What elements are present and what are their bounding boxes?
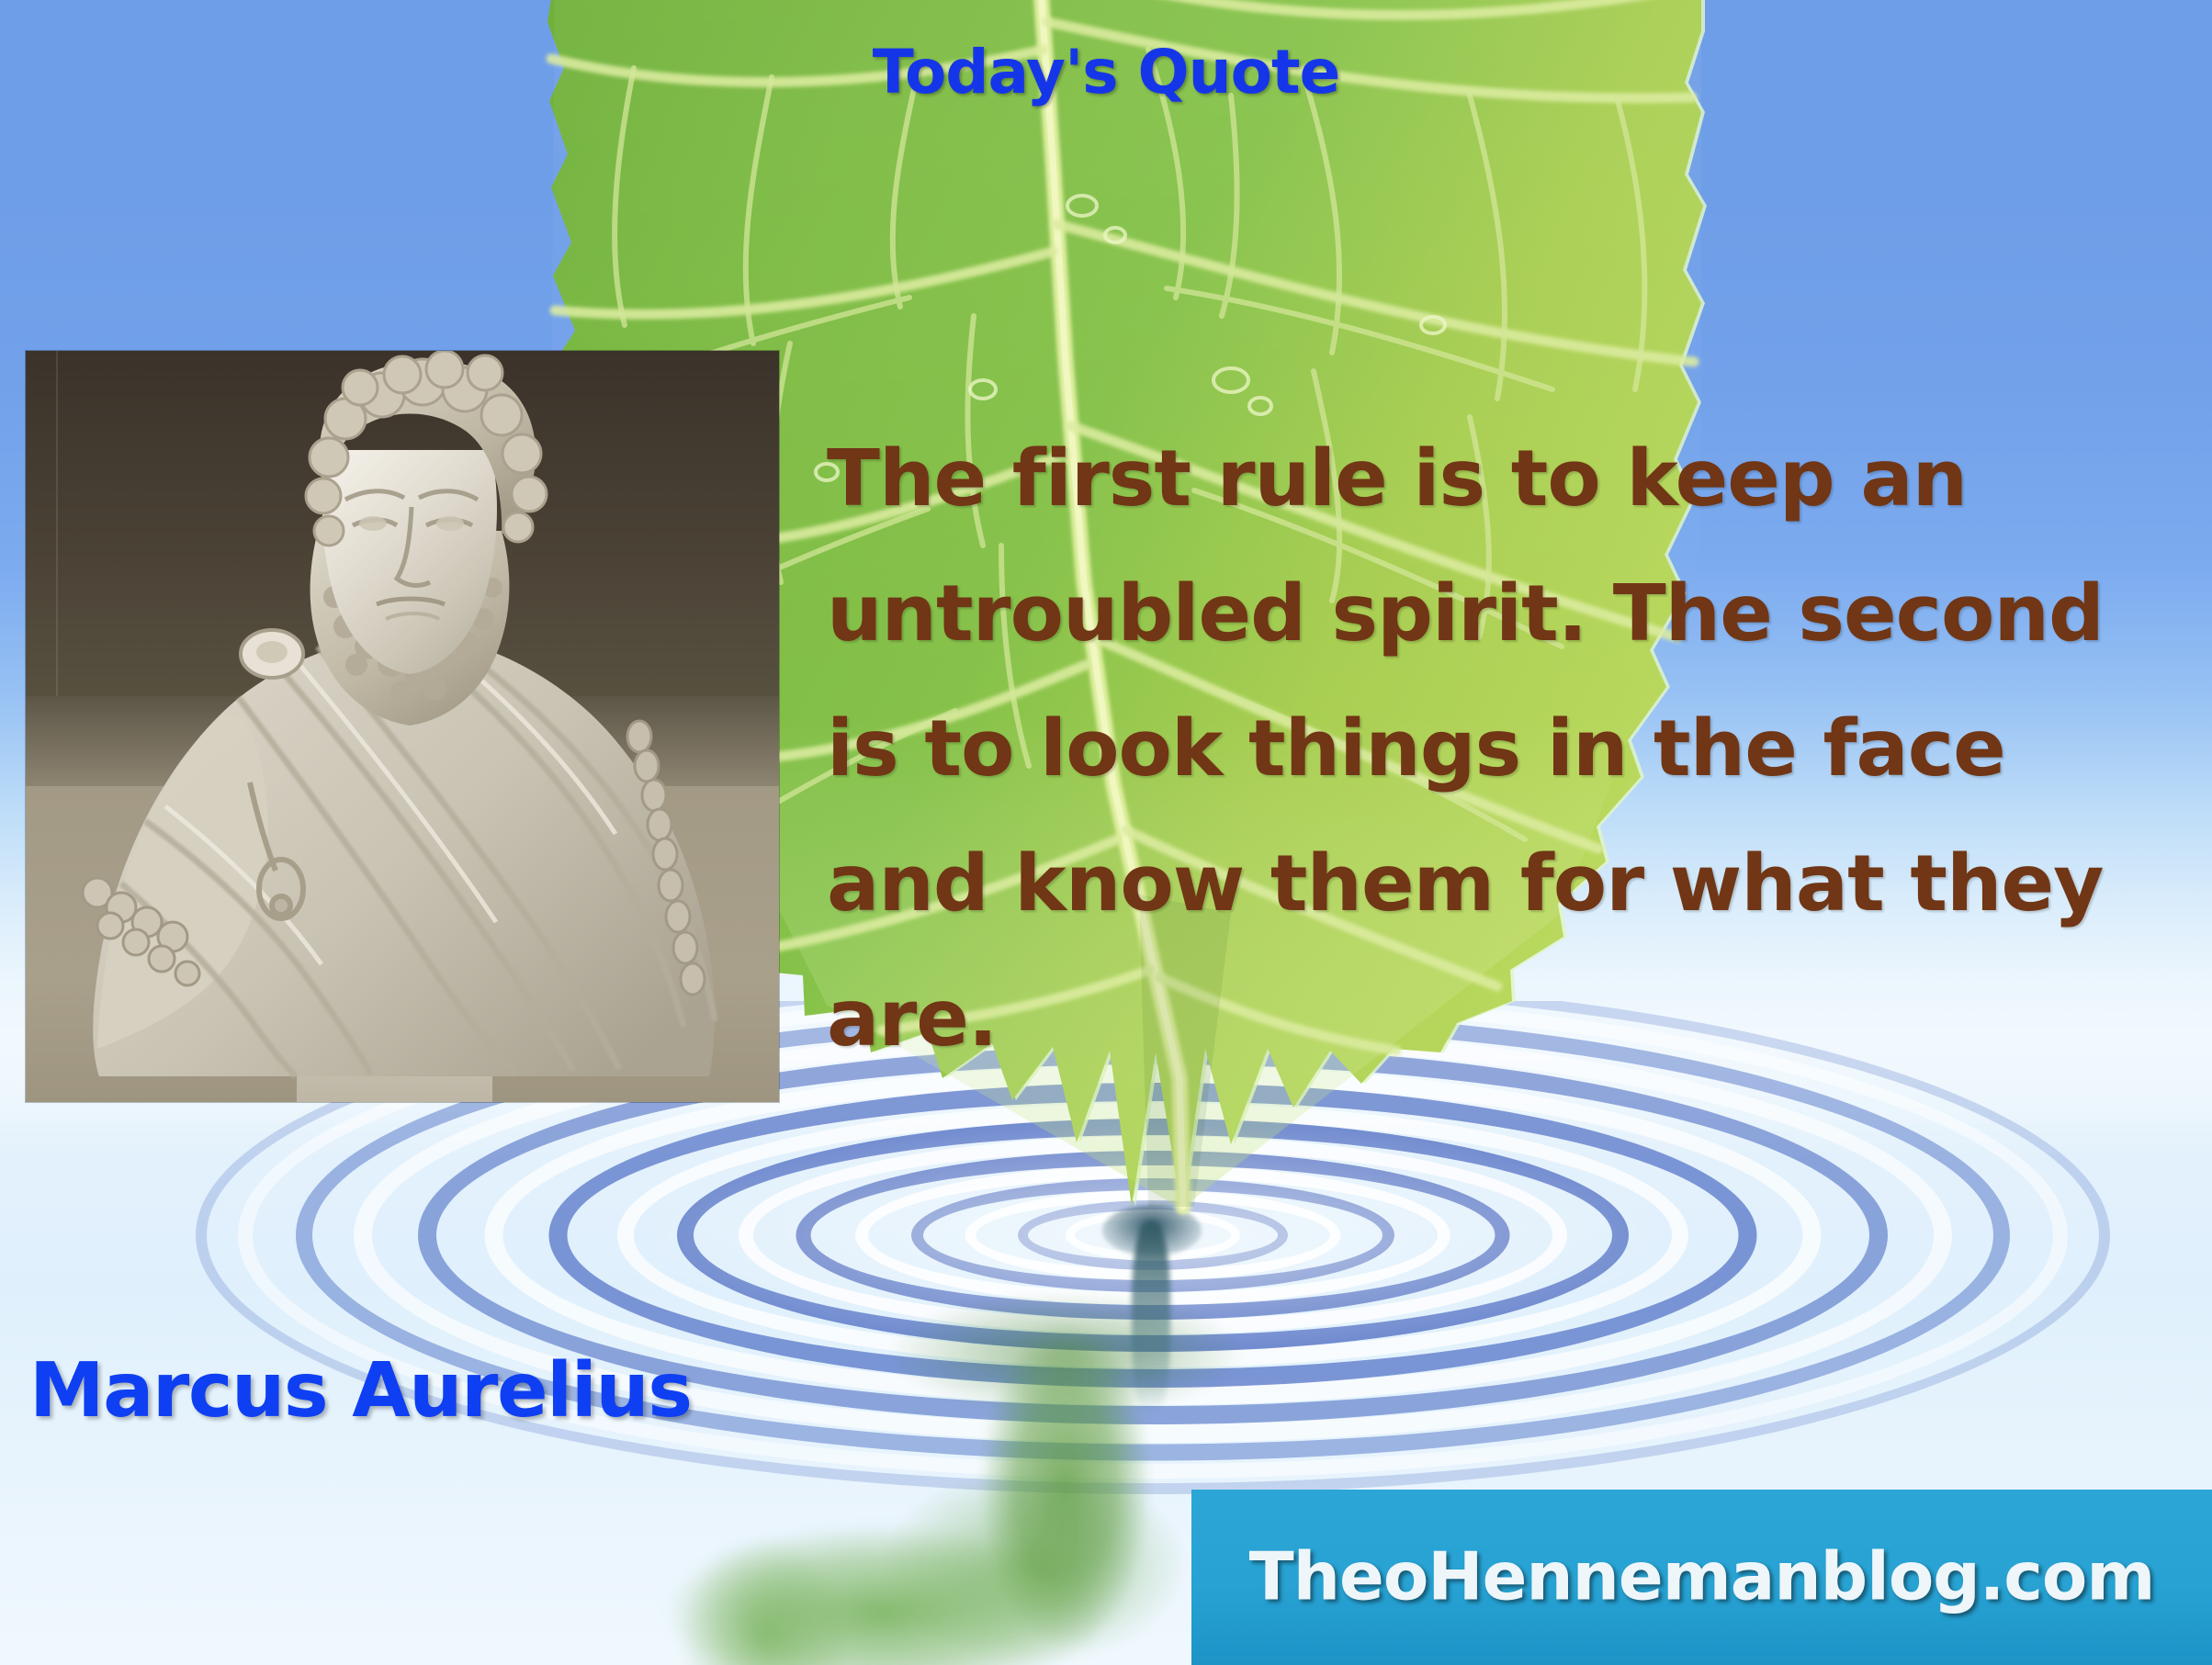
bust-svg xyxy=(26,351,779,1102)
quote-line: are. xyxy=(827,951,2191,1086)
quote-line: is to look things in the face xyxy=(827,681,2191,816)
quote-text: The first rule is to keep an untroubled … xyxy=(827,411,2191,1086)
site-url-text: TheoHennemanblog.com xyxy=(1191,1537,2212,1614)
quote-poster: Today's Quote The first rule is to keep … xyxy=(0,0,2212,1665)
page-title: Today's Quote xyxy=(0,37,2212,107)
site-watermark-bar[interactable]: TheoHennemanblog.com xyxy=(1191,1490,2212,1665)
quote-line: untroubled spirit. The second xyxy=(827,546,2191,681)
quote-line: The first rule is to keep an xyxy=(827,411,2191,546)
quote-author: Marcus Aurelius xyxy=(29,1347,692,1434)
marble-bust-photo xyxy=(26,351,779,1102)
quote-line: and know them for what they xyxy=(827,816,2191,951)
leaf-reflection-lower xyxy=(570,1469,1268,1665)
